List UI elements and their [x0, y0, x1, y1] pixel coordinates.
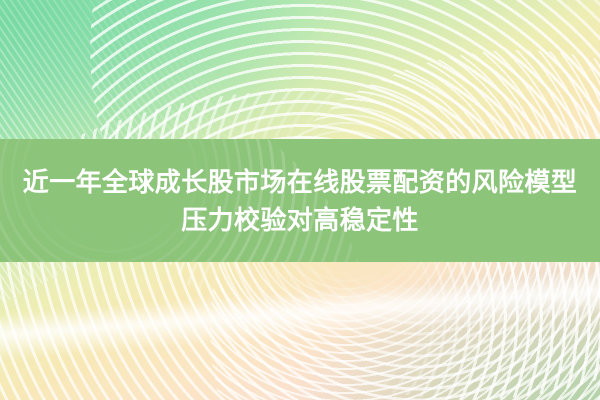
banner-title: 近一年全球成长股市场在线股票配资的风险模型压力校验对高稳定性 — [12, 163, 588, 239]
title-band: 近一年全球成长股市场在线股票配资的风险模型压力校验对高稳定性 — [0, 139, 600, 262]
banner-image: 近一年全球成长股市场在线股票配资的风险模型压力校验对高稳定性 — [0, 0, 600, 400]
